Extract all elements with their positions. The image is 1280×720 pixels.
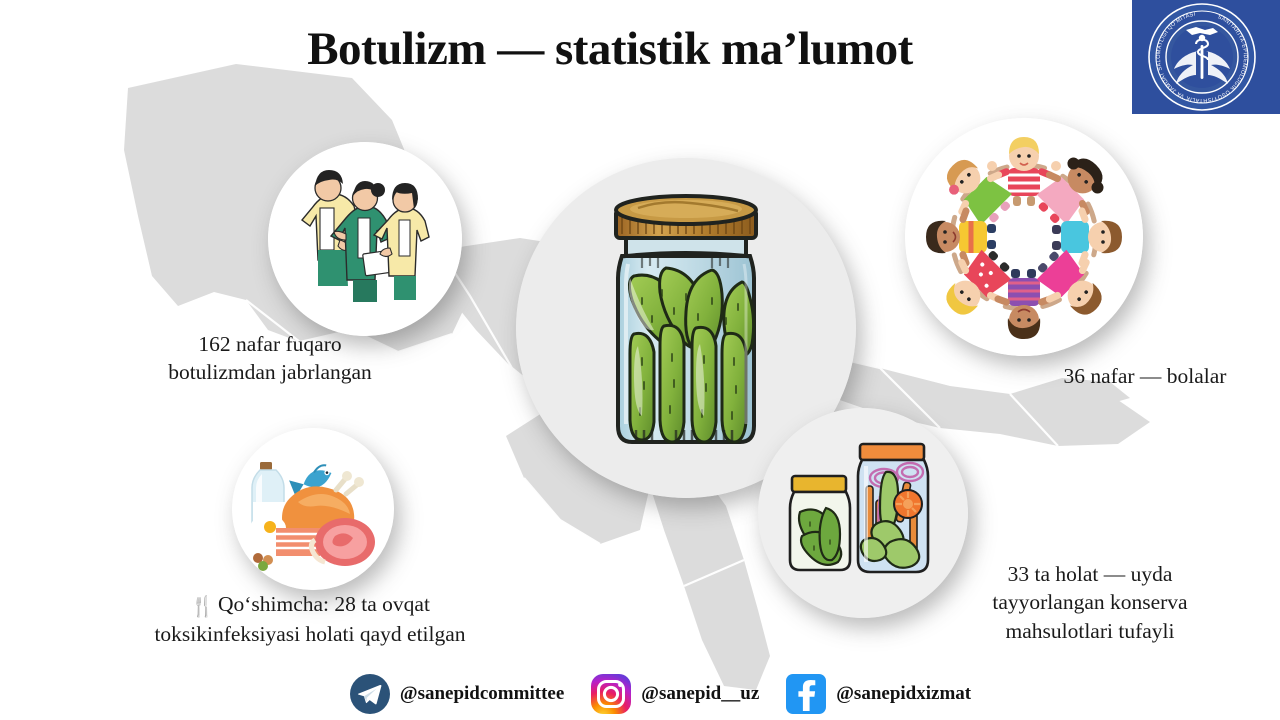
caption-line: toksikinfeksiyasi holati qayd etilgan xyxy=(110,620,510,648)
facebook-icon[interactable] xyxy=(785,673,827,715)
caption-line: tayyorlangan konserva xyxy=(930,588,1250,616)
caption-line: botulizmdan jabrlangan xyxy=(120,358,420,386)
children-holding-hands-circle-illustration xyxy=(905,118,1143,356)
social-link-facebook[interactable]: @sanepidxizmat xyxy=(785,673,971,715)
social-handle-instagram[interactable]: @sanepid__uz xyxy=(641,683,759,705)
social-link-instagram[interactable]: @sanepid__uz xyxy=(590,673,759,715)
stat-caption-citizens: 162 nafar fuqaro botulizmdan jabrlangan xyxy=(120,330,420,387)
social-links-bar: @sanepidcommittee @sanepid__ xyxy=(0,668,1280,720)
stat-caption-home-canned: 33 ta holat — uyda tayyorlangan konserva… xyxy=(930,560,1250,645)
caption-line: 162 nafar fuqaro xyxy=(120,330,420,358)
social-handle-telegram[interactable]: @sanepidcommittee xyxy=(400,683,564,705)
stat-caption-food-toxicoinfection: 🍴Qo‘shimcha: 28 ta ovqat toksikinfeksiya… xyxy=(110,590,510,649)
caption-line: Qo‘shimcha: 28 ta ovqat xyxy=(218,592,430,616)
infographic-canvas: SANITARIYA-EPIDEMIOLOGIK OSOYISHTALIK VA… xyxy=(0,0,1280,720)
caption-line: 36 nafar — bolalar xyxy=(1020,362,1270,390)
caption-line: 33 ta holat — uyda xyxy=(930,560,1250,588)
social-link-telegram[interactable]: @sanepidcommittee xyxy=(349,673,564,715)
telegram-icon[interactable] xyxy=(349,673,391,715)
assorted-food-products-illustration xyxy=(232,428,394,590)
social-handle-facebook[interactable]: @sanepidxizmat xyxy=(836,683,971,705)
instagram-icon[interactable] xyxy=(590,673,632,715)
caption-line-with-emoji: 🍴Qo‘shimcha: 28 ta ovqat xyxy=(110,590,510,620)
three-adults-talking-illustration xyxy=(268,142,462,336)
stat-caption-children: 36 nafar — bolalar xyxy=(1020,362,1270,390)
fork-and-knife-icon: 🍴 xyxy=(190,596,215,618)
page-title: Botulizm — statistik ma’lumot xyxy=(0,22,1280,76)
caption-line: mahsulotlari tufayli xyxy=(930,617,1250,645)
